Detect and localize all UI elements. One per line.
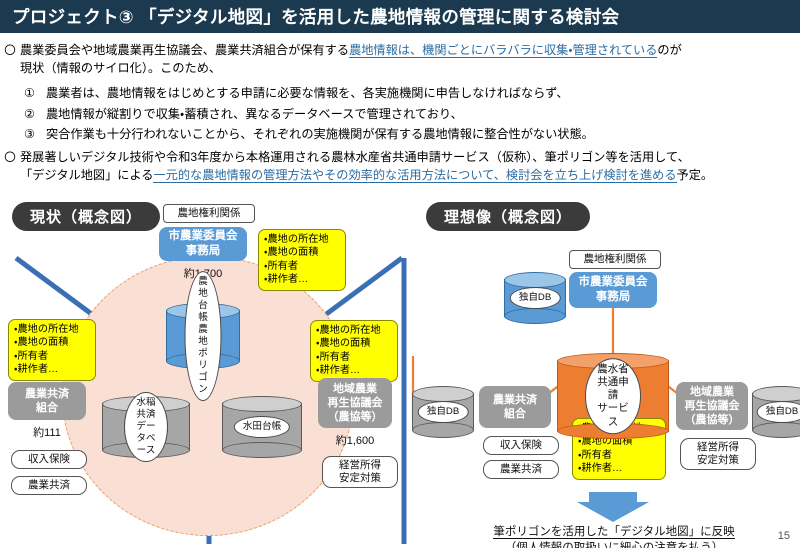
sub-item-3-marker: ③	[24, 125, 46, 143]
cylinder-top	[222, 396, 302, 412]
right-council-box: 地域農業 再生協議会 （農協等）	[676, 382, 748, 430]
sub-item-3-text: 突合作業も十分行われないことから、それぞれの実施機関が保有する農地情報に整合性が…	[46, 125, 594, 143]
cylinder-top	[504, 272, 566, 288]
bullet-1-text: 農業委員会や地域農業再生協議会、農業共済組合が保有する農地情報は、機関ごとにバラ…	[20, 42, 800, 77]
sub-item-2-marker: ②	[24, 105, 46, 123]
right-council-db-label: 独自DB	[757, 401, 800, 423]
title-underline	[0, 33, 800, 36]
right-committee-box: 市農業委員会 事務局	[569, 272, 657, 308]
right-committee-db-cylinder: 独自DB	[504, 272, 566, 324]
sub-item-1-text: 農業者は、農地情報をはじめとする申請に必要な情報を、各実施機関に申告しなければな…	[46, 84, 569, 102]
left-council-tag-income-stability: 経営所得 安定対策	[322, 456, 398, 488]
bullet-1-part1: 農業委員会や地域農業再生協議会、農業共済組合が保有する	[20, 43, 349, 57]
right-hub-cylinder: 農水省 共通申請 サービス	[557, 353, 669, 439]
left-callout-right: ・農地の所在地 ・農地の面積 ・所有者 ・耕作者…	[310, 320, 398, 382]
right-panel-heading: 理想像（概念図）	[426, 202, 590, 231]
right-mutual-aid-tag-income: 収入保険	[483, 436, 559, 455]
right-council-db-cylinder: 独自DB	[752, 386, 800, 438]
left-cylinder-mutual-aid-db: 水稲共済 データベース	[102, 396, 190, 458]
bullet-2-part2: 予定。	[677, 168, 714, 182]
left-council-box: 地域農業 再生協議会 （農協等）	[318, 378, 392, 428]
left-callout-left: ・農地の所在地 ・農地の面積 ・所有者 ・耕作者…	[8, 319, 96, 381]
bullet-2-line2: 「デジタル地図」による一元的な農地情報の管理方法やその効率的な活用方法について、…	[20, 167, 794, 185]
bullet-2: 〇 発展著しいデジタル技術や令和3年度から本格運用される農林水産省共通申請サービ…	[0, 149, 800, 184]
cylinder-bottom	[412, 422, 474, 438]
right-rights-label: 農地権利関係	[569, 250, 661, 269]
reflect-arrow	[577, 492, 649, 522]
right-footer-note: 筆ポリゴンを活用した「デジタル地図」に反映	[466, 524, 762, 540]
left-center-cylinder: 農地台帳 農地ポリゴン	[166, 303, 240, 369]
bullet-1: 〇 農業委員会や地域農業再生協議会、農業共済組合が保有する農地情報は、機関ごとに…	[0, 42, 800, 77]
bullet-2-part1: 「デジタル地図」による	[20, 168, 153, 182]
right-footer-line1: 筆ポリゴンを活用した「デジタル地図」に反映	[493, 526, 734, 539]
left-center-cylinder-label: 農地台帳 農地ポリゴン	[185, 271, 222, 401]
left-callout-top-right: ・農地の所在地 ・農地の面積 ・所有者 ・耕作者…	[258, 229, 346, 291]
left-cylinder-paddy-ledger-label: 水田台帳	[234, 416, 290, 438]
left-council-count: 約1,600	[318, 432, 392, 448]
right-mutual-aid-tag-kyosai: 農業共済	[483, 460, 559, 479]
bullet-2-highlight: 一元的な農地情報の管理方法やその効率的な活用方法について、検討会を立ち上げ検討を…	[153, 168, 676, 183]
right-footer-note-2: （個人情報の取扱いに細心の注意を払う）	[466, 540, 762, 548]
left-cylinder-mutual-aid-db-label: 水稲共済 データベース	[124, 392, 168, 462]
bullet-1-marker: 〇	[0, 42, 20, 60]
sub-item-2: ② 農地情報が縦割りで収集・蓄積され、異なるデータベースで管理されており、	[24, 105, 800, 123]
page-title: プロジェクト③ 「デジタル地図」を活用した農地情報の管理に関する検討会	[12, 4, 619, 29]
bullet-1-highlight: 農地情報は、機関ごとにバラバラに収集・管理されている	[349, 43, 657, 58]
left-mutual-aid-tag-kyosai: 農業共済	[11, 476, 87, 495]
left-mutual-aid-tag-income: 収入保険	[11, 450, 87, 469]
right-hub-cylinder-label: 農水省 共通申請 サービス	[585, 358, 641, 434]
cylinder-bottom	[222, 442, 302, 458]
left-panel-heading: 現状（概念図）	[12, 202, 160, 231]
left-cylinder-paddy-ledger: 水田台帳	[222, 396, 302, 458]
left-committee-box: 市農業委員会 事務局	[159, 227, 247, 261]
sub-item-3: ③ 突合作業も十分行われないことから、それぞれの実施機関が保有する農地情報に整合…	[24, 125, 800, 143]
sub-item-1: ① 農業者は、農地情報をはじめとする申請に必要な情報を、各実施機関に申告しなけれ…	[24, 84, 800, 102]
sub-item-1-marker: ①	[24, 84, 46, 102]
left-rights-label: 農地権利関係	[163, 204, 255, 223]
right-mutual-aid-db-label: 独自DB	[418, 401, 469, 423]
bullet-1-line2: 現状（情報のサイロ化）。このため、	[20, 60, 794, 78]
slide-title-bar: プロジェクト③ 「デジタル地図」を活用した農地情報の管理に関する検討会	[0, 0, 800, 33]
slide-root: プロジェクト③ 「デジタル地図」を活用した農地情報の管理に関する検討会 〇 農業…	[0, 0, 800, 548]
right-mutual-aid-box: 農業共済 組合	[479, 386, 551, 428]
page-number: 15	[778, 530, 790, 542]
bullet-1-part2: のが	[657, 43, 681, 57]
bullet-2-text: 発展著しいデジタル技術や令和3年度から本格運用される農林水産省共通申請サービス（…	[20, 149, 800, 184]
right-mutual-aid-db-cylinder: 独自DB	[412, 386, 474, 438]
bullet-2-marker: 〇	[0, 149, 20, 167]
cylinder-bottom	[752, 422, 800, 438]
cylinder-bottom	[504, 308, 566, 324]
body-text-block: 〇 農業委員会や地域農業再生協議会、農業共済組合が保有する農地情報は、機関ごとに…	[0, 38, 800, 185]
sub-item-2-text: 農地情報が縦割りで収集・蓄積され、異なるデータベースで管理されており、	[46, 105, 463, 123]
left-mutual-aid-count: 約111	[8, 424, 86, 440]
right-committee-db-label: 独自DB	[510, 287, 561, 309]
cylinder-top	[412, 386, 474, 402]
diagram-area: 現状（概念図） 農地権利関係 市農業委員会 事務局 約1,700 農地台帳 農地…	[0, 196, 800, 548]
right-footer-line2: （個人情報の取扱いに細心の注意を払う）	[505, 542, 724, 548]
bullet-2-line1: 発展著しいデジタル技術や令和3年度から本格運用される農林水産省共通申請サービス（…	[20, 149, 794, 167]
right-council-tag-income-stability: 経営所得 安定対策	[680, 438, 756, 470]
left-mutual-aid-box: 農業共済 組合	[8, 382, 86, 420]
